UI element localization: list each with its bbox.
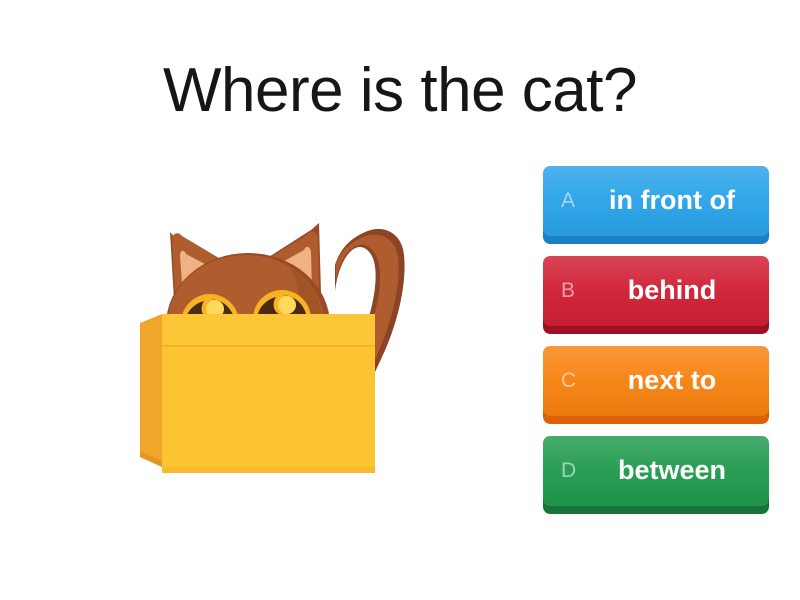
answer-option-c[interactable]: C next to — [543, 346, 769, 424]
answer-a-label: in front of — [587, 166, 757, 236]
answer-c-letter: C — [561, 346, 576, 416]
answer-option-b[interactable]: B behind — [543, 256, 769, 334]
answer-option-d[interactable]: D between — [543, 436, 769, 514]
answer-b-label: behind — [587, 256, 757, 326]
answer-a-letter: A — [561, 166, 575, 236]
answer-d-letter: D — [561, 436, 576, 506]
page-title: Where is the cat? — [0, 58, 800, 123]
cat-box-svg — [130, 205, 430, 490]
answer-d-label: between — [587, 436, 757, 506]
answer-c-label: next to — [587, 346, 757, 416]
answer-option-a[interactable]: A in front of — [543, 166, 769, 244]
quiz-slide: Where is the cat? — [0, 0, 800, 600]
box-icon — [140, 314, 375, 473]
answer-b-letter: B — [561, 256, 575, 326]
answer-options-list: A in front of B behind C next to D betwe… — [543, 166, 769, 526]
cat-peeking-behind-box-illustration — [130, 205, 430, 490]
